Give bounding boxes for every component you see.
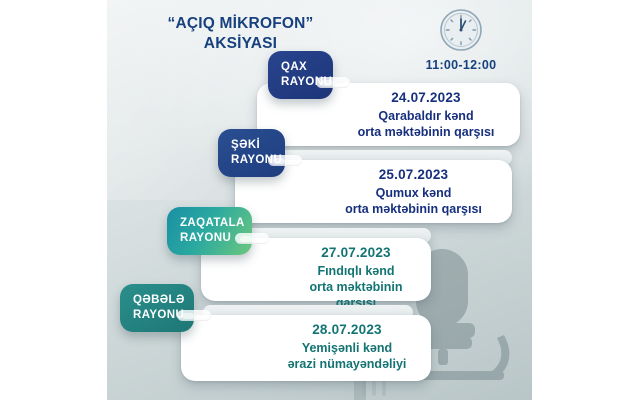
event-place-line-1: Yemişənli kənd [273,340,421,356]
tab-connector [316,77,350,88]
event-place-line-2: ərazi nümayəndəliyi [273,356,421,372]
event-date: 28.07.2023 [273,322,421,337]
district-line-2: RAYONU [133,308,180,323]
district-line-1: ŞƏKİ [231,138,271,153]
tab-connector [235,233,269,244]
time-range-label: 11:00-12:00 [395,58,527,72]
district-tab-zaqatala[interactable]: ZAQATALA RAYONU [167,207,252,255]
page-title: “AÇIQ MİKROFON” AKSİYASI [113,14,368,54]
district-line-2: RAYONU [231,153,271,168]
tab-connector [268,155,302,166]
event-place-line-1: Fındıqlı kənd [291,263,421,279]
district-tab-qebele[interactable]: QƏBƏLƏ RAYONU [120,284,194,332]
event-date: 24.07.2023 [342,90,510,105]
time-block: 11:00-12:00 [395,8,527,72]
event-place-line-2: orta məktəbinin qarşısı [325,201,502,217]
tab-connector [177,310,211,321]
event-date: 27.07.2023 [291,245,421,260]
event-date: 25.07.2023 [325,167,502,182]
title-line-2: AKSİYASI [113,34,368,54]
district-tab-qax[interactable]: QAX RAYONU [268,51,333,99]
event-place-line-2: orta məktəbinin qarşısı [342,124,510,140]
district-line-1: ZAQATALA [180,216,238,231]
district-line-2: RAYONU [180,231,238,246]
district-line-2: RAYONU [281,75,319,90]
title-line-1: “AÇIQ MİKROFON” [168,15,314,32]
event-place-line-1: Qarabaldır kənd [342,108,510,124]
district-line-1: QAX [281,60,319,75]
event-place-line-1: Qumux kənd [325,185,502,201]
clock-icon [439,8,483,52]
info-card: 28.07.2023 Yemişənli kənd ərazi nümayənd… [181,315,431,381]
district-line-1: QƏBƏLƏ [133,293,180,308]
poster-canvas: “AÇIQ MİKROFON” AKSİYASI azəriqaz [107,0,532,400]
district-tab-seki[interactable]: ŞƏKİ RAYONU [218,129,285,177]
